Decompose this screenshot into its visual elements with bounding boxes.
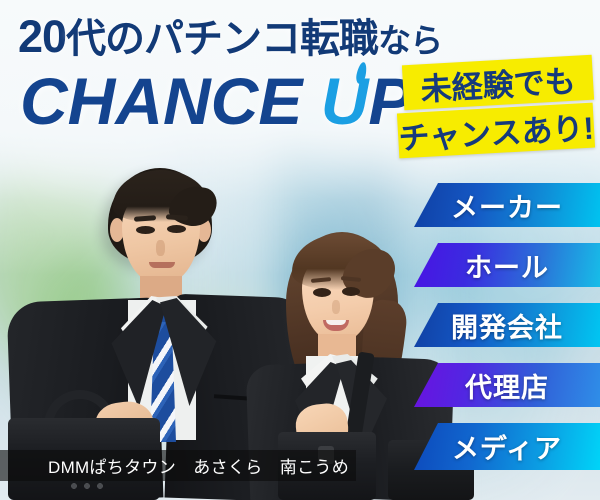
logo-text-before: CHANCE (20, 64, 321, 138)
woman-nose (332, 300, 340, 314)
man-mouth (149, 262, 175, 268)
menu-item-hall[interactable]: ホール (414, 243, 600, 287)
man-eye-left (136, 226, 155, 234)
logo-letter-u: U (321, 64, 369, 138)
woman-teeth (326, 320, 346, 325)
menu-item-media[interactable]: メディア (414, 423, 600, 470)
man-briefcase-studs (66, 482, 108, 490)
man-nose (156, 240, 165, 256)
advertisement-banner[interactable]: 20代のパチンコ転職なら CHANCE UP 未経験でも チャンスあり! メーカ… (0, 0, 600, 500)
headline-text: 20代のパチンコ転職なら (18, 14, 442, 59)
menu-item-maker[interactable]: メーカー (414, 183, 600, 227)
caption-text: DMMぱちタウン あさくら 南こうめ (0, 453, 349, 478)
menu-item-agency[interactable]: 代理店 (414, 363, 600, 407)
woman-eye-right (342, 287, 360, 296)
caption-band: DMMぱちタウン あさくら 南こうめ (0, 450, 356, 481)
headline-middle: 代のパチンコ転職 (66, 17, 378, 61)
woman-eye-left (313, 288, 331, 297)
menu-item-development-company[interactable]: 開発会社 (414, 303, 600, 347)
headline-tail: なら (378, 22, 442, 59)
man-eye-right (167, 225, 186, 233)
headline-number: 20 (18, 11, 66, 62)
chance-up-logo: CHANCE UP (20, 68, 412, 134)
